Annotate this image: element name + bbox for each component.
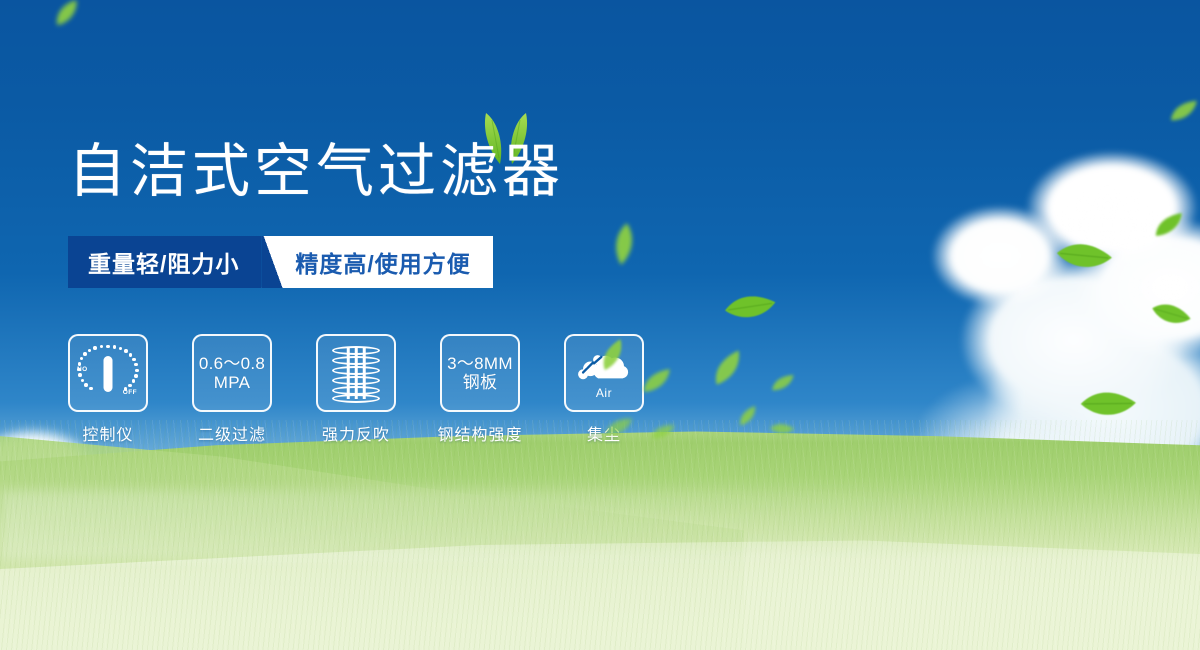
steel-line-2: 钢板 — [447, 373, 513, 392]
feature-label-control: 控制仪 — [82, 421, 133, 445]
filter-stack-icon — [327, 344, 385, 402]
pressure-line-1: 0.6～0.8 — [199, 354, 265, 373]
feature-item-backblow[interactable]: 强力反吹 — [316, 334, 396, 445]
floating-leaf — [768, 371, 797, 394]
feature-box-backblow[interactable] — [316, 334, 396, 412]
grass-texture-overlay — [0, 420, 1200, 650]
steel-line-1: 3～8MM — [447, 354, 513, 373]
steel-text-icon: 3～8MM 钢板 — [447, 354, 513, 392]
subtitle-left-segment: 重量轻/阻力小 — [68, 236, 261, 288]
subtitle-bar: 重量轻/阻力小 精度高/使用方便 — [68, 236, 493, 288]
pressure-text-icon: 0.6～0.8 MPA — [199, 354, 265, 392]
air-cloud-caption: Air — [573, 386, 635, 400]
gauge-label-no: NO — [77, 366, 88, 373]
feature-box-pressure[interactable]: 0.6～0.8 MPA — [192, 334, 272, 412]
floating-leaf — [609, 221, 639, 268]
subtitle-right-segment: 精度高/使用方便 — [287, 236, 492, 288]
floating-leaf — [649, 423, 677, 442]
gauge-needle — [104, 356, 113, 392]
feature-box-steel[interactable]: 3～8MM 钢板 — [440, 334, 520, 412]
gauge-icon: NO OFF — [77, 344, 139, 402]
feature-box-dust[interactable]: Air — [564, 334, 644, 412]
banner-headline: 自洁式空气过滤器 — [68, 143, 564, 201]
floating-leaf — [722, 283, 778, 330]
gauge-label-off: OFF — [123, 389, 137, 396]
feature-list: NO OFF 控制仪 0.6～0.8 MPA 二级过滤 — [68, 334, 644, 445]
feature-item-pressure[interactable]: 0.6～0.8 MPA 二级过滤 — [192, 334, 272, 445]
feature-label-backblow: 强力反吹 — [322, 421, 390, 445]
product-banner: 自洁式空气过滤器 重量轻/阻力小 精度高/使用方便 — [0, 0, 1200, 650]
floating-leaf — [49, 0, 85, 29]
feature-label-steel: 钢结构强度 — [438, 421, 523, 445]
feature-item-steel[interactable]: 3～8MM 钢板 钢结构强度 — [440, 334, 520, 445]
feature-box-control[interactable]: NO OFF — [68, 334, 148, 412]
subtitle-divider-wedge — [261, 236, 287, 288]
pressure-line-2: MPA — [199, 373, 265, 392]
feature-label-pressure: 二级过滤 — [198, 421, 266, 445]
feature-item-control[interactable]: NO OFF 控制仪 — [68, 334, 148, 445]
floating-leaf — [705, 347, 752, 389]
